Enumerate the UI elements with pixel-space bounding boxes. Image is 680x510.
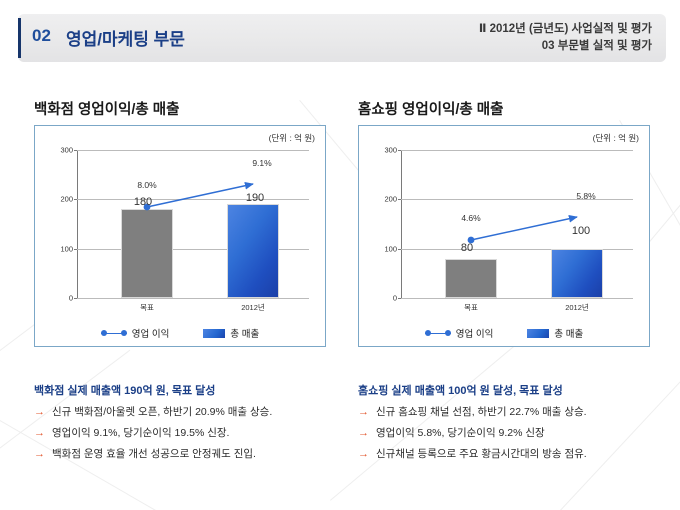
x-label-target-right: 목표	[464, 302, 478, 313]
plot-area-right: 300 200 100 0 4	[401, 150, 633, 298]
breadcrumb-line-1: Ⅱ 2012년 (금년도) 사업실적 및 평가	[479, 21, 652, 38]
legend-item-revenue-right: 총 매출	[527, 326, 583, 340]
bullet-text-right-2: 영업이익 5.8%, 당기순이익 9.2% 신장	[376, 426, 545, 441]
pct-label-target-right: 4.6%	[461, 213, 480, 223]
chart-right: (단위 : 억 원) 300 200 100 0	[358, 125, 650, 347]
chart-unit-label-left: (단위 : 억 원)	[269, 132, 315, 144]
bullet-text-left-2: 영업이익 9.1%, 당기순이익 19.5% 신장.	[52, 426, 229, 441]
chart-title-right: 홈쇼핑 영업이익/총 매출	[358, 98, 662, 119]
y-tick-mark-0-right	[398, 298, 401, 299]
y-tick-200-right: 200	[384, 195, 397, 204]
bullet-text-left-1: 신규 백화점/아울렛 오픈, 하반기 20.9% 매출 상승.	[52, 405, 272, 420]
list-item: → 신규채널 등록으로 주요 황금시간대의 방송 점유.	[358, 447, 678, 462]
summary-heading-right: 홈쇼핑 실제 매출액 100억 원 달성, 목표 달성	[358, 382, 678, 398]
x-axis-labels-right: 목표 2012년	[401, 302, 633, 316]
bar-value-target-left: 180	[134, 196, 152, 208]
legend-label-profit-right: 영업 이익	[456, 326, 494, 340]
breadcrumb-line-2: 03 부문별 실적 및 평가	[479, 38, 652, 55]
x-label-actual-left: 2012년	[241, 302, 265, 313]
bullet-text-left-3: 백화점 운영 효율 개선 성공으로 안정궤도 진입.	[52, 447, 256, 462]
slide-header: 02 영업/마케팅 부문 Ⅱ 2012년 (금년도) 사업실적 및 평가 03 …	[18, 14, 666, 62]
arrow-icon: →	[34, 447, 52, 462]
list-item: → 신규 백화점/아울렛 오픈, 하반기 20.9% 매출 상승.	[34, 405, 354, 420]
y-tick-100-left: 100	[60, 244, 73, 253]
arrow-icon: →	[358, 447, 376, 462]
chart-unit-label-right: (단위 : 억 원)	[593, 132, 639, 144]
list-item: → 영업이익 5.8%, 당기순이익 9.2% 신장	[358, 426, 678, 441]
legend-item-profit-right: 영업 이익	[425, 326, 494, 340]
panel-home-shopping: 홈쇼핑 영업이익/총 매출 (단위 : 억 원) 300 200 100 0	[350, 98, 662, 347]
x-label-target-left: 목표	[140, 302, 154, 313]
arrow-icon: →	[34, 405, 52, 420]
header-breadcrumb: Ⅱ 2012년 (금년도) 사업실적 및 평가 03 부문별 실적 및 평가	[479, 21, 652, 55]
profit-line-series-right	[401, 150, 633, 298]
y-tick-100-right: 100	[384, 244, 397, 253]
y-tick-300-left: 300	[60, 146, 73, 155]
y-tick-200-left: 200	[60, 195, 73, 204]
bar-swatch-icon	[527, 329, 549, 338]
arrow-icon: →	[358, 405, 376, 420]
bar-value-actual-left: 190	[246, 192, 264, 204]
pct-label-target-left: 8.0%	[137, 180, 156, 190]
pct-label-actual-right: 5.8%	[576, 191, 595, 201]
legend-item-revenue-left: 총 매출	[203, 326, 259, 340]
gridline-0-right	[401, 298, 633, 299]
y-tick-0-left: 0	[69, 294, 73, 303]
plot-area-left: 300 200 100 0	[77, 150, 309, 298]
legend-item-profit-left: 영업 이익	[101, 326, 170, 340]
arrow-icon: →	[34, 426, 52, 441]
chart-legend-right: 영업 이익 총 매출	[359, 326, 649, 340]
chart-legend-left: 영업 이익 총 매출	[35, 326, 325, 340]
summary-department-store: 백화점 실제 매출액 190억 원, 목표 달성 → 신규 백화점/아울렛 오픈…	[34, 382, 354, 468]
summary-home-shopping: 홈쇼핑 실제 매출액 100억 원 달성, 목표 달성 → 신규 홈쇼핑 채널 …	[358, 382, 678, 468]
y-tick-0-right: 0	[393, 294, 397, 303]
bullet-text-right-3: 신규채널 등록으로 주요 황금시간대의 방송 점유.	[376, 447, 587, 462]
summary-heading-left: 백화점 실제 매출액 190억 원, 목표 달성	[34, 382, 354, 398]
y-tick-mark-0-left	[74, 298, 77, 299]
gridline-0-left	[77, 298, 309, 299]
legend-label-profit-left: 영업 이익	[132, 326, 170, 340]
profit-line-series-left	[77, 150, 309, 298]
bar-swatch-icon	[203, 329, 225, 338]
legend-label-revenue-right: 총 매출	[554, 326, 583, 340]
bullet-text-right-1: 신규 홈쇼핑 채널 선점, 하반기 22.7% 매출 상승.	[376, 405, 587, 420]
y-tick-300-right: 300	[384, 146, 397, 155]
page-title: 영업/마케팅 부문	[66, 25, 185, 50]
list-item: → 백화점 운영 효율 개선 성공으로 안정궤도 진입.	[34, 447, 354, 462]
chart-left: (단위 : 억 원) 300 200 100 0	[34, 125, 326, 347]
x-axis-labels-left: 목표 2012년	[77, 302, 309, 316]
list-item: → 영업이익 9.1%, 당기순이익 19.5% 신장.	[34, 426, 354, 441]
line-marker-icon	[425, 329, 451, 337]
legend-label-revenue-left: 총 매출	[230, 326, 259, 340]
x-label-actual-right: 2012년	[565, 302, 589, 313]
arrow-icon: →	[358, 426, 376, 441]
chart-title-left: 백화점 영업이익/총 매출	[34, 98, 338, 119]
pct-label-actual-left: 9.1%	[252, 158, 271, 168]
panel-department-store: 백화점 영업이익/총 매출 (단위 : 억 원) 300 200 100 0	[26, 98, 338, 347]
header-section-number: 02	[32, 26, 51, 46]
bar-value-actual-right: 100	[572, 225, 590, 237]
line-marker-icon	[101, 329, 127, 337]
list-item: → 신규 홈쇼핑 채널 선점, 하반기 22.7% 매출 상승.	[358, 405, 678, 420]
header-accent-bar	[18, 18, 21, 58]
bar-value-target-right: 80	[461, 242, 473, 254]
